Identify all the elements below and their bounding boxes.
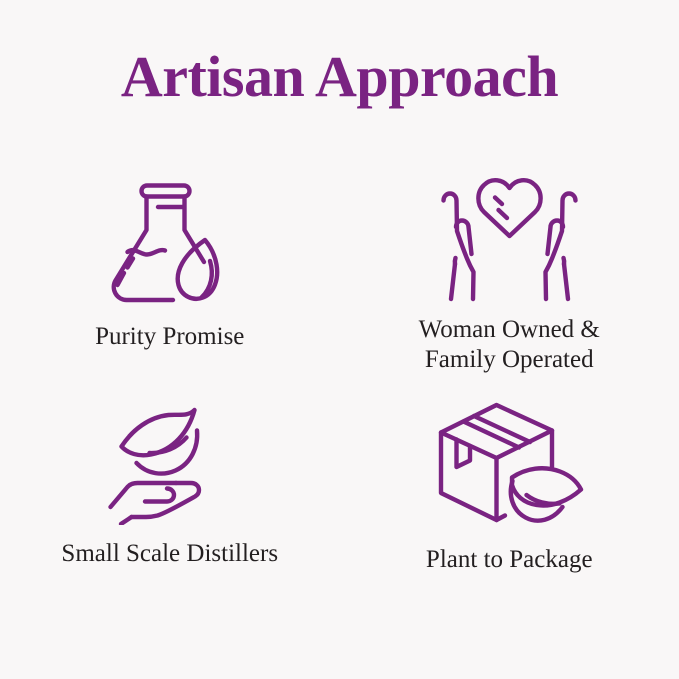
feature-caption: Woman Owned & Family Operated — [419, 315, 600, 375]
feature-grid: Purity Promise — [0, 150, 679, 650]
hands-heart-icon — [427, 168, 592, 303]
box-leaf-icon — [434, 401, 584, 531]
feature-item-woman-owned: Woman Owned & Family Operated — [340, 150, 679, 395]
feature-caption: Plant to Package — [426, 545, 593, 575]
feature-item-plant-to-package: Plant to Package — [340, 395, 679, 620]
artisan-approach-panel: Artisan Approach — [0, 0, 679, 679]
flask-leaf-icon — [100, 168, 240, 308]
feature-caption: Small Scale Distillers — [61, 539, 278, 569]
feature-caption: Purity Promise — [95, 322, 244, 352]
hand-leaf-icon — [105, 405, 235, 525]
feature-item-small-scale-distillers: Small Scale Distillers — [0, 395, 340, 620]
feature-item-purity-promise: Purity Promise — [0, 150, 340, 395]
page-title: Artisan Approach — [0, 42, 679, 112]
